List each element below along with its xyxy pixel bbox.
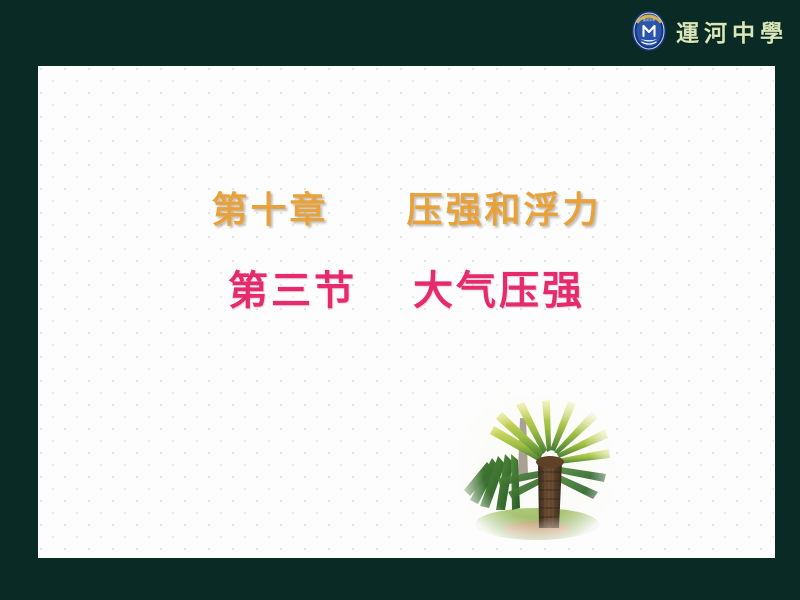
school-brand: 運河中學 運河中學 bbox=[630, 6, 788, 56]
school-name-label: 運河中學 bbox=[676, 14, 788, 48]
cycad-plant-photo bbox=[458, 396, 616, 542]
school-emblem-icon: 運河中學 bbox=[630, 10, 668, 52]
section-title: 第三节 大气压强 bbox=[38, 258, 775, 316]
chapter-title: 第十章 压强和浮力 bbox=[38, 181, 775, 233]
svg-text:運河中學: 運河中學 bbox=[643, 17, 657, 22]
slide-canvas: 運河中學 運河中學 第十章 压强和浮力 第三节 大气压强 bbox=[0, 0, 800, 600]
content-panel: 第十章 压强和浮力 第三节 大气压强 bbox=[38, 66, 775, 558]
